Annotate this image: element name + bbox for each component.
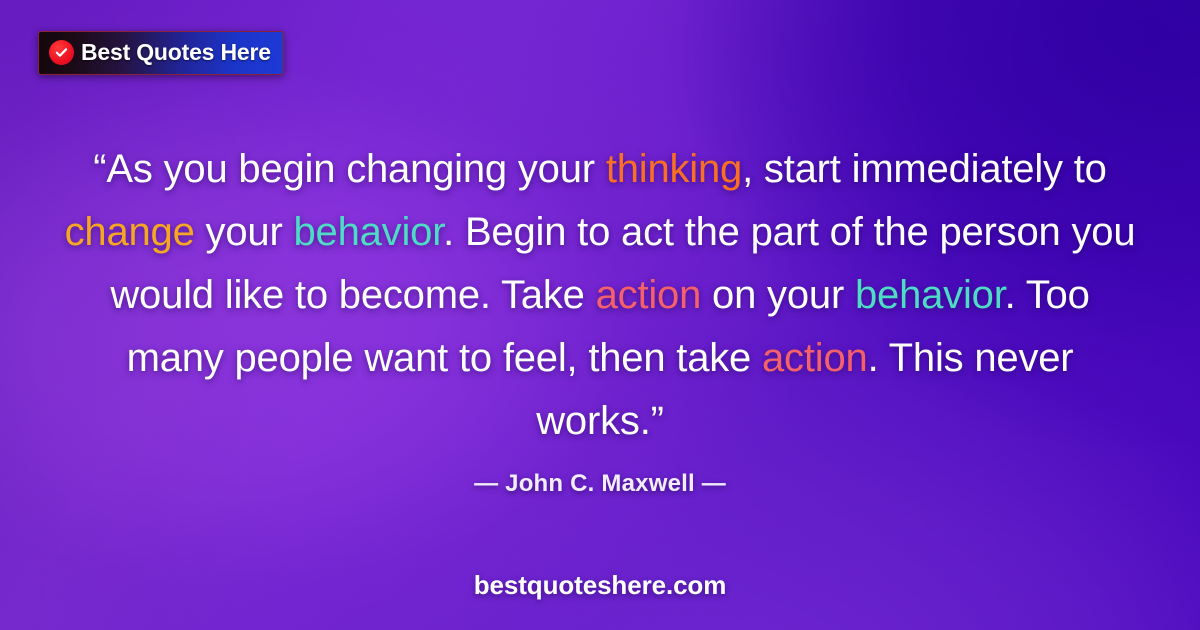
check-circle-icon (49, 40, 74, 65)
brand-badge[interactable]: Best Quotes Here (38, 31, 284, 75)
site-url: bestquoteshere.com (0, 570, 1200, 601)
quote-card: Best Quotes Here “As you begin changing … (0, 0, 1200, 630)
quote-segment-8: on your (701, 273, 855, 317)
quote-segment-9: behavior (855, 273, 1005, 317)
quote-author: — John C. Maxwell — (0, 470, 1200, 498)
brand-badge-label: Best Quotes Here (81, 41, 271, 64)
quote-segment-0: “As you begin changing your (93, 147, 606, 191)
quote-segment-3: change (65, 210, 195, 254)
quote-segment-4: your (195, 210, 294, 254)
quote-segment-1: thinking (606, 147, 742, 191)
quote-segment-5: behavior (293, 210, 443, 254)
quote-segment-11: action (762, 336, 868, 380)
quote-segment-2: , start immediately to (742, 147, 1107, 191)
quote-segment-7: action (596, 273, 702, 317)
quote-text: “As you begin changing your thinking, st… (0, 138, 1200, 453)
